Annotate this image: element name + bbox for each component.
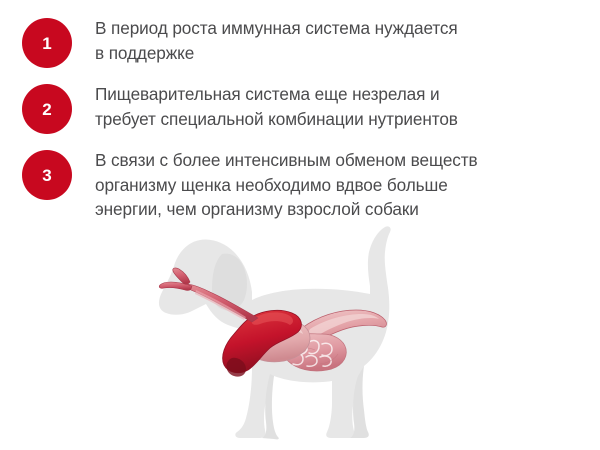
bullet-number-badge-3: 3 — [22, 150, 72, 200]
bullet-number-badge-1: 1 — [22, 18, 72, 68]
bullet-number-badge-2: 2 — [22, 84, 72, 134]
puppy-digestive-system-diagram — [140, 218, 470, 450]
infographic-page: 1 В период роста иммунная система нуждае… — [0, 0, 600, 450]
bullet-text-2: Пищеварительная система еще незрелая и т… — [95, 82, 575, 131]
bullet-text-3: В связи с более интенсивным обменом веще… — [95, 148, 575, 222]
bullet-text-1: В период роста иммунная система нуждаетс… — [95, 16, 575, 65]
